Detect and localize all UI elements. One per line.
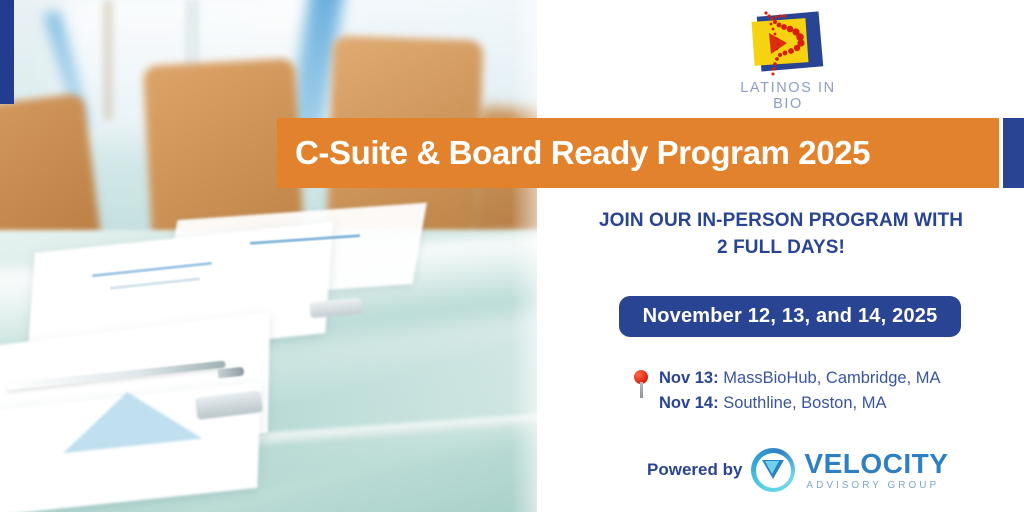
program-title: C-Suite & Board Ready Program 2025: [295, 134, 870, 172]
location-venue: MassBioHub, Cambridge, MA: [719, 369, 941, 387]
location-day: Nov 14:: [659, 394, 719, 412]
powered-by-label: Powered by: [647, 460, 742, 480]
map-pin-icon: [633, 370, 649, 398]
poster-canvas: LATINOS IN BIO JOIN OUR IN-PERSON PROGRA…: [0, 0, 1024, 512]
velocity-wordmark: VELOCITY ADVISORY GROUP: [804, 450, 948, 491]
location-venue: Southline, Boston, MA: [719, 394, 887, 412]
powered-by-block: Powered by VELOCITY ADVISORY GROUP: [647, 448, 948, 492]
subtitle-line-1: JOIN OUR IN-PERSON PROGRAM WITH: [561, 208, 1001, 235]
logo-red-dna-dots-icon: [751, 10, 829, 78]
photo-right-fade: [511, 0, 537, 512]
velocity-tagline: ADVISORY GROUP: [806, 481, 948, 491]
map-pin-stem: [640, 382, 643, 398]
location-day: Nov 13:: [659, 369, 719, 387]
conference-room-photo: [0, 0, 537, 512]
locations-block: Nov 13: MassBioHub, Cambridge, MA Nov 14…: [633, 366, 1013, 416]
event-date-pill: November 12, 13, and 14, 2025: [619, 296, 961, 337]
velocity-v-circle-icon: [751, 448, 795, 492]
banner-navy-end-cap: [1003, 118, 1024, 188]
velocity-name: VELOCITY: [804, 450, 948, 478]
program-title-banner: C-Suite & Board Ready Program 2025: [277, 118, 999, 188]
velocity-circle-inner: [756, 453, 791, 488]
latinos-in-bio-mark-icon: [751, 10, 829, 78]
subtitle-block: JOIN OUR IN-PERSON PROGRAM WITH 2 FULL D…: [561, 208, 1001, 262]
corner-accent-bar: [0, 0, 14, 104]
right-content-panel: LATINOS IN BIO JOIN OUR IN-PERSON PROGRA…: [537, 0, 1024, 512]
latinos-in-bio-logo: LATINOS IN BIO: [723, 8, 853, 104]
velocity-v-highlight: [765, 461, 779, 474]
latinos-in-bio-wordmark: LATINOS IN BIO: [723, 80, 853, 112]
location-line: Nov 13: MassBioHub, Cambridge, MA: [659, 366, 1013, 391]
background-pole-2: [104, 0, 113, 120]
subtitle-line-2: 2 FULL DAYS!: [561, 235, 1001, 262]
event-date-text: November 12, 13, and 14, 2025: [643, 305, 938, 328]
location-line: Nov 14: Southline, Boston, MA: [659, 391, 1013, 416]
